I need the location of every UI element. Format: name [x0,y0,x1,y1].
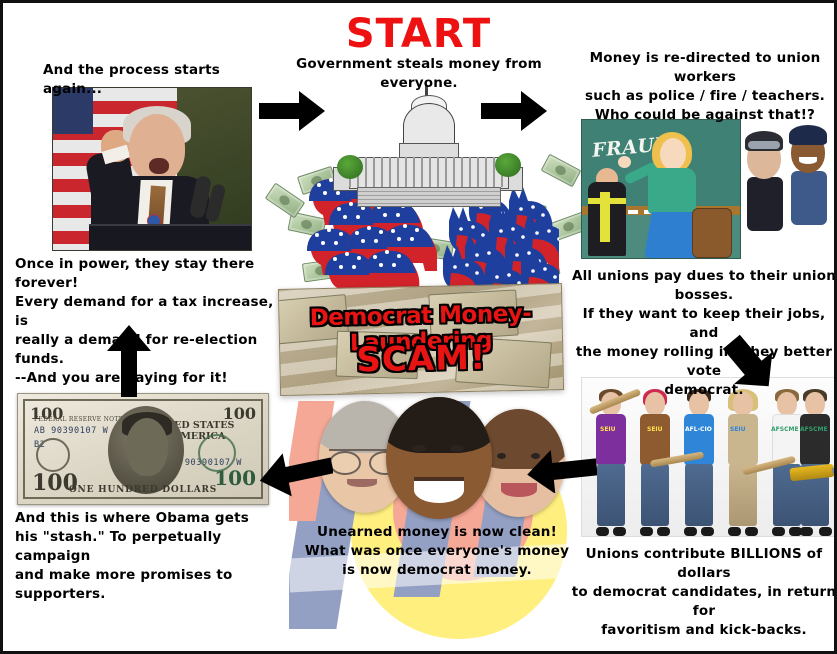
eye [450,445,464,452]
union-worker: SEIU [592,392,630,536]
capitol-steps [357,187,501,207]
police-officer-caricature [789,123,829,227]
jeans [641,464,669,526]
shoe [745,527,758,536]
serial-number-left: AB 90390107 W [34,426,108,436]
shoe [819,527,832,536]
teacher-face [660,138,686,170]
green-seal-icon [198,434,236,472]
shoe [772,527,785,536]
shoe [701,527,714,536]
arrow-capitol-out [481,91,547,131]
arrow-to-kennedy [107,325,151,397]
hair [386,397,492,453]
shirt-logo-text: SEIU [600,426,616,433]
shirt-logo-text: AFSCME [800,426,828,433]
union-worker: SEIU [724,392,762,536]
politician-face-obama [386,397,492,519]
smiling-mouth [414,477,464,503]
shoe [596,527,609,536]
shoe [613,527,626,536]
helmet-visor [748,141,780,149]
denomination-words: ONE HUNDRED DOLLARS [18,485,268,495]
shirt-logo-text: SEIU [730,426,746,433]
caption-top-center: Government steals money from everyone. [275,55,563,93]
politician-speech-photo [52,87,252,251]
smiling-mouth [799,157,817,164]
union-shirt [596,414,626,466]
page-title: START [3,11,834,57]
capitol-columns [349,157,507,187]
shoe [640,527,653,536]
caption-mid-right: All unions pay dues to their union bosse… [569,267,837,400]
union-worker: AFL-CIO [680,392,718,536]
shirt-logo-text: AFL-CIO [685,426,712,433]
shoe [800,527,813,536]
trench-coat [728,414,758,466]
chalk-piece [628,210,638,214]
police-caricature-group [745,123,837,235]
teacher-hand [618,156,631,168]
political-infographic-poster: START And the process starts again... Go… [0,0,837,654]
caption-top-right: Money is re-directed to union workers su… [571,49,837,125]
shoe [657,527,670,536]
treasury-seal-icon [36,438,70,472]
podium [89,224,251,250]
shirt-logo-text: AFSCME [771,426,799,433]
shoe [684,527,697,536]
banner-line-2: SCAM! [280,336,563,382]
briefcase-icon [692,208,732,258]
union-worker: SEIU [636,392,674,536]
shirt-logo-text: SEIU [647,426,663,433]
arrow-to-workers [719,333,781,395]
leather-jacket [800,414,830,466]
teacher-shirt [648,168,696,214]
caption-bottom-center: Unearned money is now clean! What was on… [293,523,581,580]
tree-icon [495,153,521,177]
jeans [597,464,625,526]
money-laundering-banner: Democrat Money-Laundering SCAM! [278,283,564,396]
tree-icon [337,155,363,179]
union-workers-photo: SEIU SEIU AFL-CIO [581,377,837,537]
teacher-chalkboard-cartoon: FRAUD! [581,119,741,259]
uniform [747,177,783,231]
uniform [791,171,827,225]
arrow-to-dollar [259,449,333,497]
riot-police-caricature [745,129,785,233]
denomination-top-left: 100 [30,404,63,423]
hundred-dollar-bill: FEDERAL RESERVE NOTE 100 100 100 100 AB … [17,393,269,505]
arrow-to-faces [527,449,597,493]
reflective-cuff [588,198,626,204]
open-mouth [149,158,169,174]
jeans [685,464,713,526]
portrait-face-obama [126,418,168,476]
arrow-capitol-in [259,91,325,131]
caption-bottom-left: And this is where Obama gets his "stash.… [15,509,297,604]
shoe [728,527,741,536]
police-cap-icon [789,125,827,145]
caption-mid-left: Once in power, they stay there forever! … [15,255,287,388]
caption-top-left: And the process starts again... [43,61,273,99]
eye [412,445,426,452]
caption-bottom-right: Unions contribute BILLIONS of dollars to… [569,545,837,640]
eye [497,453,506,459]
mouth [347,479,377,487]
union-worker: AFSCME [796,392,836,536]
